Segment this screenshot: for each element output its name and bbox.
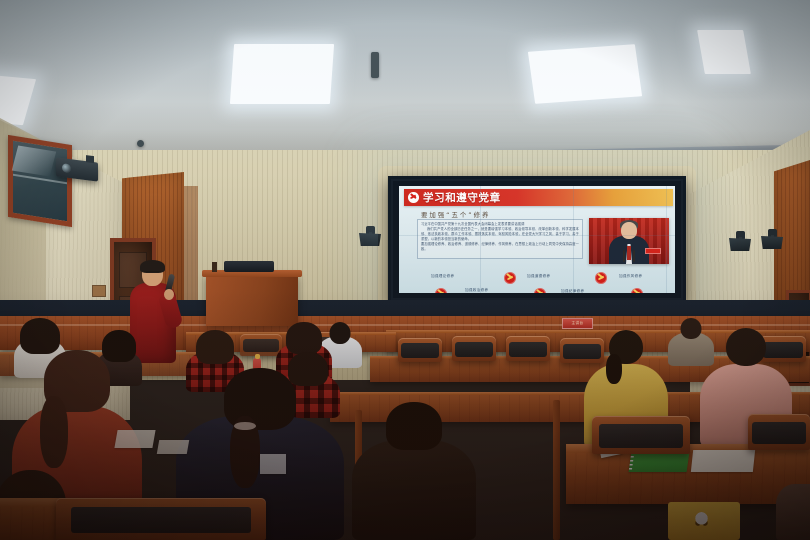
speaker-center-wall <box>357 226 383 248</box>
projector-mount <box>86 155 94 163</box>
photo-figure-tie <box>627 246 630 260</box>
speaker-cabinet <box>761 236 783 249</box>
wall-outlet-icon <box>92 285 106 297</box>
cultivation-item: 加强理论修养 <box>431 274 454 280</box>
photo-red-banner <box>645 248 661 254</box>
party-emblem-icon <box>435 288 447 293</box>
projector-lens-icon <box>62 163 71 173</box>
seat-back <box>452 336 496 361</box>
cultivation-label: 加强道德修养 <box>527 274 550 279</box>
student-mid-right <box>352 402 476 540</box>
ceiling-smoke-detector-icon <box>137 140 144 147</box>
person-head <box>20 318 60 354</box>
person-ponytail <box>606 354 622 384</box>
cultivation-item: 加强道德修养 <box>527 274 550 279</box>
slide-header-banner: 学习和遵守党章 <box>404 189 673 206</box>
person-torso <box>776 484 810 540</box>
person-head <box>330 322 351 344</box>
speaker-cabinet <box>729 238 751 251</box>
person-head <box>681 318 702 339</box>
photo-microphone-icon <box>623 250 625 262</box>
party-emblem-icon <box>504 272 516 284</box>
wooden-lectern <box>206 274 298 326</box>
speaker-right-a <box>727 231 753 253</box>
presenter-hand <box>164 289 174 300</box>
projection-screen: 学习和遵守党章 要加强“五个”修养 习近平在中国共产党第十九次全国代表大会闭幕会… <box>388 176 686 303</box>
cultivation-label: 加强理论修养 <box>431 274 454 279</box>
seat-cushion <box>509 342 547 358</box>
sleeve-patch <box>260 454 286 474</box>
slide-subtitle: 要加强“五个”修养 <box>421 210 490 219</box>
photo-microphone-icon <box>633 250 635 262</box>
white-papers <box>157 440 189 454</box>
person-torso <box>352 440 476 540</box>
person-head <box>196 330 234 364</box>
person-head <box>386 402 442 450</box>
seat-cushion <box>71 507 252 533</box>
party-emblem-icon <box>534 288 546 293</box>
seat-divider <box>553 400 560 540</box>
slide-body-textbox: 习近平在中国共产党第十九次全国代表大会闭幕会上发表重要讲话强调 我们共产党人的全… <box>417 219 583 259</box>
desk-nameplate-text: 主讲台 <box>572 321 584 326</box>
desk-nameplate: 主讲台 <box>562 318 593 329</box>
white-papers <box>691 450 755 472</box>
cultivation-label: 加强政治修养 <box>465 288 488 293</box>
hair-tie-icon <box>234 422 256 430</box>
speaker-right-b <box>759 229 785 251</box>
slide-title: 学习和遵守党章 <box>423 190 501 205</box>
seat-back <box>56 498 266 540</box>
photo-figure-head <box>621 222 637 239</box>
cultivation-item: 加强作风修养 <box>619 274 642 279</box>
upper-left-window <box>8 135 72 227</box>
seat-cushion <box>455 342 493 358</box>
party-emblem-icon <box>631 288 643 293</box>
speaker-cabinet <box>359 233 381 246</box>
party-emblem-icon <box>595 272 607 284</box>
bag-print-icon <box>687 510 716 531</box>
lecture-hall-photo: 学习和遵守党章 要加强“五个”修养 习近平在中国共产党第十九次全国代表大会闭幕会… <box>0 0 810 540</box>
seat-back <box>398 338 442 362</box>
lectern-laptop <box>224 261 274 272</box>
slide-body-line: 我们共产党人的全部历史任务之一，就是要增强学习本领、政治领导本领、改革创新本领、… <box>421 227 579 242</box>
white-papers <box>114 430 155 448</box>
ceiling-light-panel <box>697 30 751 74</box>
slide-body-line: 要加强理论修养、政治修养、道德修养、纪律修养、作风修养，在思想上政治上行动上同党… <box>421 242 579 252</box>
yellow-tote-bag <box>668 502 740 540</box>
cultivation-label: 加强纪律修养 <box>561 289 584 293</box>
ceiling-fixture-icon <box>371 52 379 78</box>
seat-cushion <box>243 339 279 353</box>
lectern-mic-base <box>212 262 217 272</box>
party-emblem-icon <box>408 192 419 203</box>
person-hair-strand <box>40 396 68 468</box>
cultivation-item: 加强政治修养 <box>465 288 488 293</box>
seat-back <box>592 416 690 454</box>
person-head <box>286 322 322 354</box>
green-spiral-notebook <box>629 452 690 472</box>
ceiling-light-panel <box>528 44 642 104</box>
student-far-right-edge <box>776 464 810 540</box>
bottle-cap <box>255 354 260 359</box>
cultivation-item: 加强纪律修养 <box>561 289 584 293</box>
glasses-icon <box>144 271 161 275</box>
cultivation-label: 加强作风修养 <box>619 274 642 279</box>
seat-back <box>506 336 550 361</box>
seat-cushion <box>752 422 805 444</box>
person-head <box>726 328 766 366</box>
seat-back <box>748 414 810 450</box>
seat-cushion <box>599 424 683 448</box>
seat-cushion <box>401 343 439 358</box>
leader-at-podium-photo <box>589 218 669 264</box>
slide-canvas: 学习和遵守党章 要加强“五个”修养 习近平在中国共产党第十九次全国代表大会闭幕会… <box>399 186 675 293</box>
ceiling-light-panel <box>230 44 334 104</box>
window-glare <box>12 146 56 177</box>
